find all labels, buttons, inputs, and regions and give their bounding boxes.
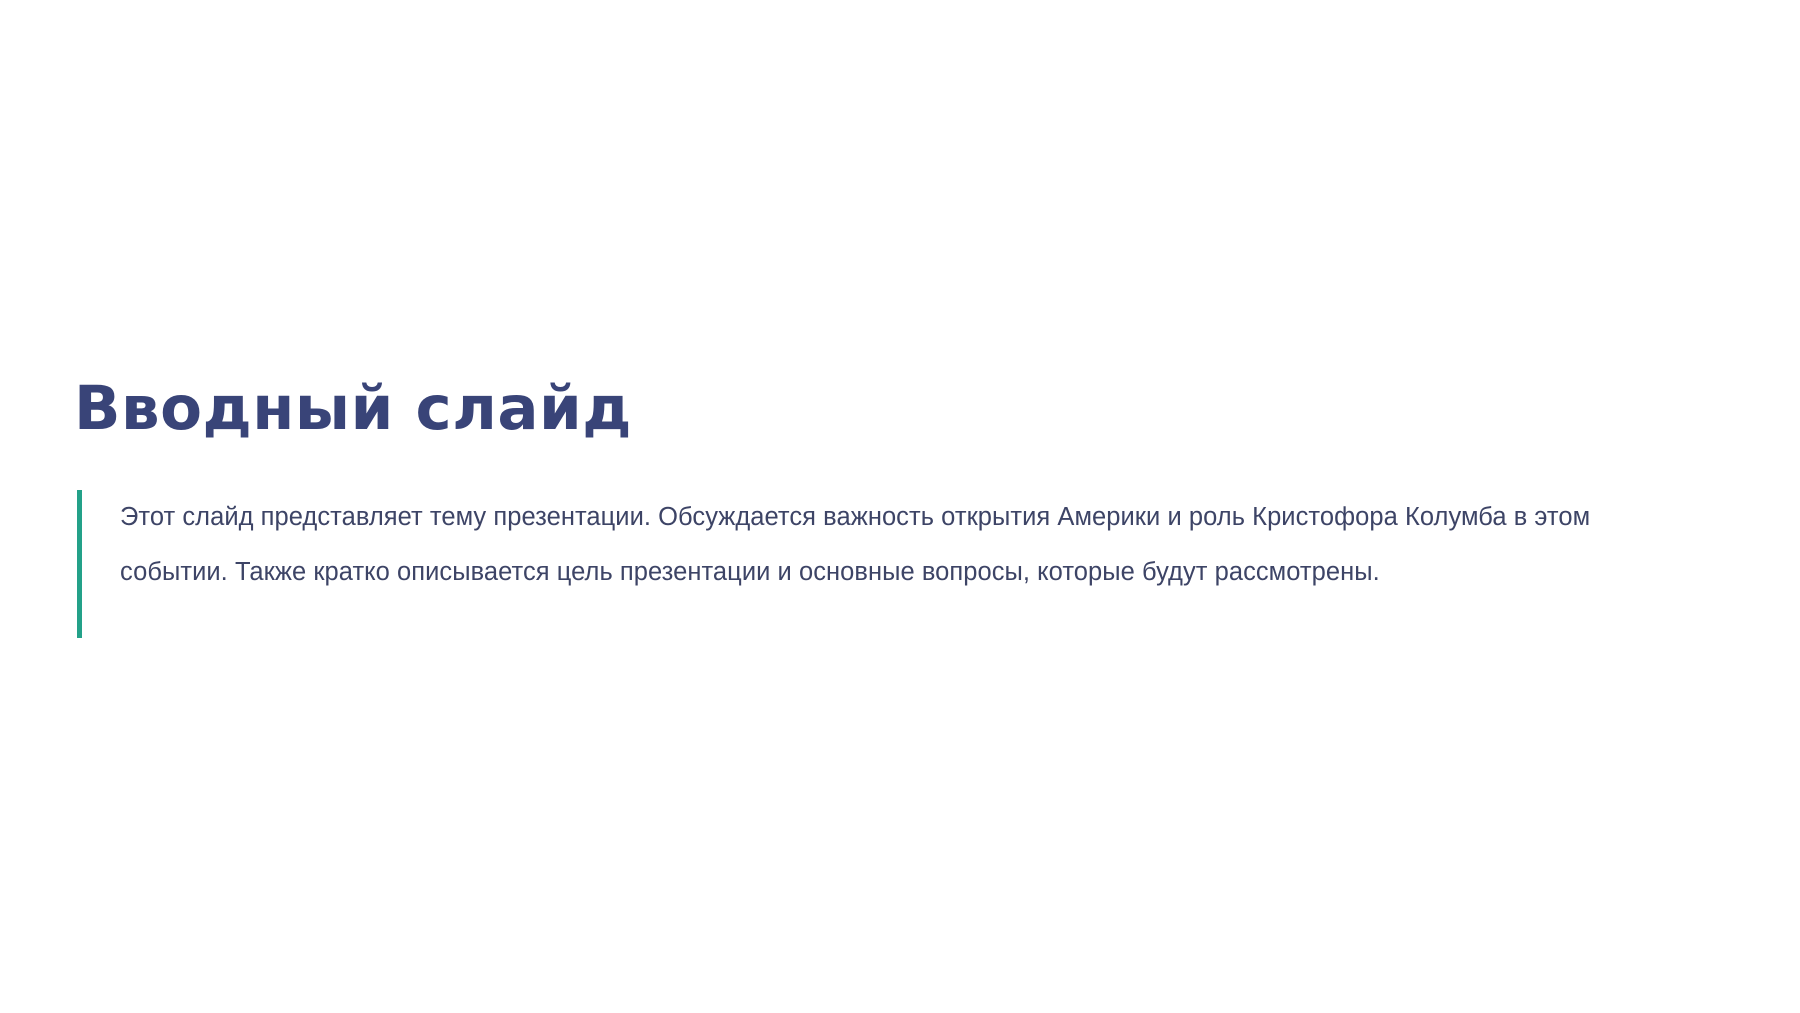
presentation-slide: Вводный слайд Этот слайд представляет те… <box>0 0 1800 1013</box>
body-text-block: Этот слайд представляет тему презентации… <box>77 490 1677 638</box>
slide-body-paragraph: Этот слайд представляет тему презентации… <box>82 490 1677 638</box>
page-title: Вводный слайд <box>74 372 632 446</box>
slide-content-area: Вводный слайд Этот слайд представляет те… <box>0 0 1800 1013</box>
